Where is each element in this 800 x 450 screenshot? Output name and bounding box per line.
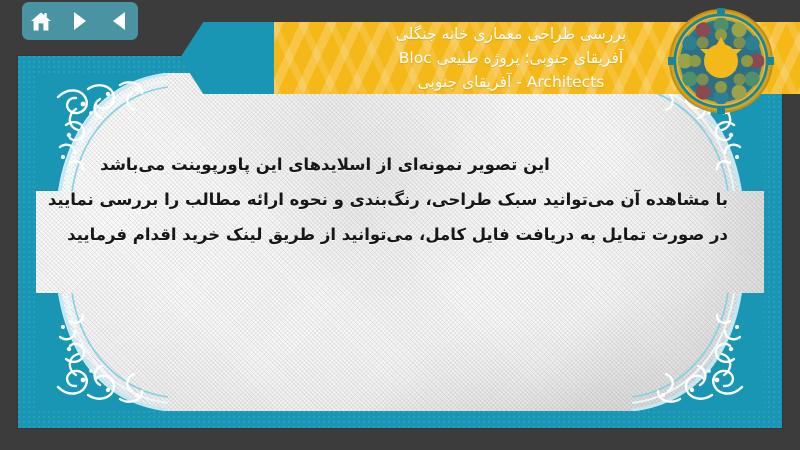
home-button[interactable] [26, 6, 56, 36]
home-icon [30, 11, 52, 32]
navigation-panel [22, 2, 138, 40]
body-line: با مشاهده آن می‌توانید سبک طراحی، رنگ‌بن… [72, 182, 728, 217]
corner-ornament-bottom-right-icon [632, 293, 764, 411]
body-line: در صورت تمایل به دریافت فایل کامل، می‌تو… [72, 217, 728, 252]
persian-ornament-medallion-icon [668, 8, 774, 114]
banner-arrow-shape [180, 22, 286, 94]
triangle-left-icon [110, 11, 128, 31]
slide-viewer: بررسی طراحی معماری خانه جنگلی آفریقای جن… [0, 0, 800, 450]
triangle-right-icon [71, 11, 89, 31]
corner-ornament-bottom-left-icon [36, 293, 168, 411]
body-line: این تصویر نمونه‌ای از اسلایدهای این پاور… [72, 147, 728, 182]
forward-button[interactable] [65, 6, 95, 36]
slide-body-text: این تصویر نمونه‌ای از اسلایدهای این پاور… [36, 147, 764, 252]
slide-content-area: این تصویر نمونه‌ای از اسلایدهای این پاور… [36, 73, 764, 411]
back-button[interactable] [104, 6, 134, 36]
